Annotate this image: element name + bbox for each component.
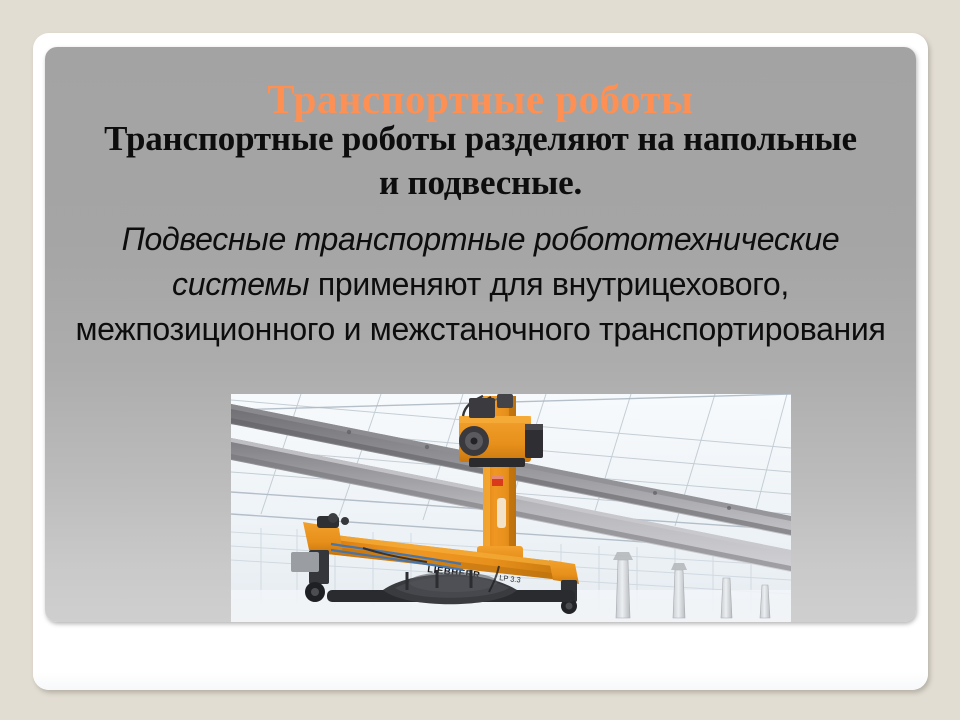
page-title: Транспортные роботы	[45, 77, 916, 121]
slide-body-text: Транспортные роботы разделяют на напольн…	[75, 117, 886, 352]
slide-content-panel: Транспортные роботы Транспортные роботы …	[45, 47, 916, 622]
slide-stage: Транспортные роботы Транспортные роботы …	[0, 0, 960, 720]
slide-frame: Транспортные роботы Транспортные роботы …	[33, 33, 928, 690]
robot-photo-illustration: LIEBHERR LP 3.3	[231, 394, 791, 622]
detail-paragraph: Подвесные транспортные робототехнические…	[75, 217, 886, 352]
lead-paragraph: Транспортные роботы разделяют на напольн…	[75, 117, 886, 205]
robot-photo: LIEBHERR LP 3.3	[231, 394, 791, 622]
slide-frame-footer	[33, 630, 928, 690]
